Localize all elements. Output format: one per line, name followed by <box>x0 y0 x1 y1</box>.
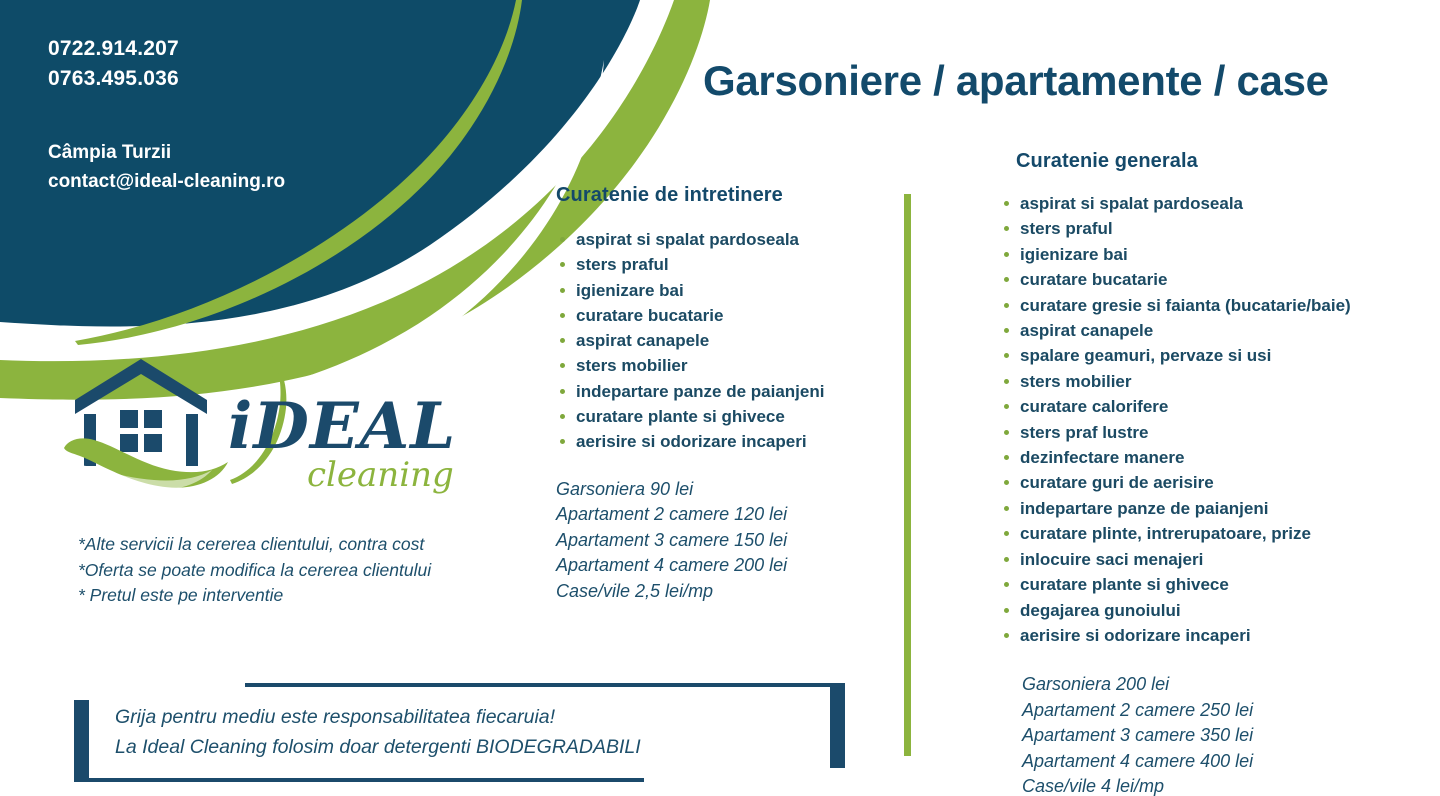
list-item: aspirat canapele <box>1000 318 1430 343</box>
logo-wordmark: iDEAL <box>228 389 456 464</box>
price-row: Apartament 2 camere 120 lei <box>556 502 896 528</box>
service-label: inlocuire saci menajeri <box>1020 550 1203 569</box>
price-list-general: Garsoniera 200 lei Apartament 2 camere 2… <box>1022 672 1430 796</box>
eco-quote-box: Grija pentru mediu este responsabilitate… <box>60 660 820 796</box>
list-item: sters mobilier <box>1000 369 1430 394</box>
service-label: spalare geamuri, pervaze si usi <box>1020 346 1271 365</box>
eco-quote-line-2: La Ideal Cleaning folosim doar detergent… <box>115 732 641 762</box>
bullet-icon <box>560 363 565 368</box>
footnote-1: *Alte servicii la cererea clientului, co… <box>78 532 431 558</box>
service-label: aspirat canapele <box>576 331 709 350</box>
footnotes-block: *Alte servicii la cererea clientului, co… <box>78 532 431 609</box>
bullet-icon <box>560 389 565 394</box>
list-item: curatare bucatarie <box>556 303 896 328</box>
bullet-icon <box>1004 226 1009 231</box>
list-item: sters mobilier <box>556 353 896 378</box>
service-label: igienizare bai <box>576 281 684 300</box>
column-heading-general: Curatenie generala <box>1016 150 1430 173</box>
list-item: aspirat si spalat pardoseala <box>1000 191 1430 216</box>
bullet-icon <box>560 414 565 419</box>
list-item: curatare guri de aerisire <box>1000 470 1430 495</box>
service-label: curatare gresie si faianta (bucatarie/ba… <box>1020 296 1351 315</box>
service-label: sters mobilier <box>576 356 688 375</box>
service-label: indepartare panze de paianjeni <box>1020 499 1268 518</box>
list-item: aerisire si odorizare incaperi <box>1000 623 1430 648</box>
bullet-icon <box>1004 557 1009 562</box>
frame-line-bottom <box>74 778 644 782</box>
footnote-2: *Oferta se poate modifica la cererea cli… <box>78 558 431 584</box>
service-label: curatare plante si ghivece <box>1020 575 1229 594</box>
column-divider <box>904 194 911 756</box>
bullet-icon <box>1004 303 1009 308</box>
list-item: indepartare panze de paianjeni <box>1000 496 1430 521</box>
price-row: Apartament 4 camere 200 lei <box>556 553 896 579</box>
service-label: sters mobilier <box>1020 372 1132 391</box>
list-item: dezinfectare manere <box>1000 445 1430 470</box>
service-label: sters praful <box>1020 219 1113 238</box>
column-general-cleaning: Curatenie generala aspirat si spalat par… <box>1000 150 1430 796</box>
bullet-icon <box>1004 455 1009 460</box>
list-item: aspirat si spalat pardoseala <box>556 227 896 252</box>
bullet-icon <box>1004 480 1009 485</box>
bullet-icon <box>1004 531 1009 536</box>
list-item: indepartare panze de paianjeni <box>556 379 896 404</box>
list-item: inlocuire saci menajeri <box>1000 547 1430 572</box>
service-label: curatare plante si ghivece <box>576 407 785 426</box>
list-item: igienizare bai <box>556 278 896 303</box>
list-item: curatare plante si ghivece <box>1000 572 1430 597</box>
service-label: sters praful <box>576 255 669 274</box>
price-row: Garsoniera 90 lei <box>556 477 896 503</box>
list-item: sters praful <box>556 252 896 277</box>
eco-quote-text: Grija pentru mediu este responsabilitate… <box>115 702 641 762</box>
service-list-maintenance: aspirat si spalat pardoseala sters prafu… <box>556 227 896 455</box>
list-item: igienizare bai <box>1000 242 1430 267</box>
frame-line-top <box>245 683 845 687</box>
bullet-icon <box>1004 252 1009 257</box>
bullet-icon <box>1004 328 1009 333</box>
price-list-maintenance: Garsoniera 90 lei Apartament 2 camere 12… <box>556 477 896 605</box>
bullet-icon <box>1004 633 1009 638</box>
service-label: aerisire si odorizare incaperi <box>576 432 807 451</box>
service-label: aspirat si spalat pardoseala <box>1020 194 1243 213</box>
price-row: Apartament 3 camere 150 lei <box>556 528 896 554</box>
email-address: contact@ideal-cleaning.ro <box>48 168 285 196</box>
service-label: curatare bucatarie <box>576 306 723 325</box>
list-item: sters praf lustre <box>1000 420 1430 445</box>
list-item: curatare bucatarie <box>1000 267 1430 292</box>
list-item: curatare plante si ghivece <box>556 404 896 429</box>
bullet-icon <box>560 288 565 293</box>
service-label: aspirat canapele <box>1020 321 1153 340</box>
bullet-icon <box>1004 201 1009 206</box>
bullet-icon <box>1004 582 1009 587</box>
bullet-icon <box>560 439 565 444</box>
price-row: Case/vile 4 lei/mp <box>1022 774 1430 796</box>
service-label: curatare plinte, intrerupatoare, prize <box>1020 524 1311 543</box>
phone-primary: 0722.914.207 <box>48 34 285 64</box>
phone-secondary: 0763.495.036 <box>48 64 285 94</box>
price-row: Garsoniera 200 lei <box>1022 672 1430 698</box>
bullet-icon <box>560 338 565 343</box>
bullet-icon <box>1004 404 1009 409</box>
bullet-icon <box>560 262 565 267</box>
service-label: degajarea gunoiului <box>1020 601 1181 620</box>
bullet-icon <box>1004 353 1009 358</box>
list-item: aerisire si odorizare incaperi <box>556 429 896 454</box>
list-item: sters praful <box>1000 216 1430 241</box>
list-item: degajarea gunoiului <box>1000 598 1430 623</box>
service-label: dezinfectare manere <box>1020 448 1184 467</box>
bullet-icon <box>1004 608 1009 613</box>
service-label: curatare calorifere <box>1020 397 1168 416</box>
bullet-icon <box>560 237 565 242</box>
bullet-icon <box>560 313 565 318</box>
bullet-icon <box>1004 430 1009 435</box>
city-label: Câmpia Turzii <box>48 138 285 168</box>
bullet-icon <box>1004 379 1009 384</box>
page-title: Garsoniere / apartamente / case <box>703 57 1329 105</box>
service-list-general: aspirat si spalat pardoseala sters prafu… <box>1000 191 1430 648</box>
price-row: Apartament 4 camere 400 lei <box>1022 749 1430 775</box>
service-label: curatare bucatarie <box>1020 270 1167 289</box>
list-item: spalare geamuri, pervaze si usi <box>1000 343 1430 368</box>
price-row: Apartament 3 camere 350 lei <box>1022 723 1430 749</box>
service-label: aerisire si odorizare incaperi <box>1020 626 1251 645</box>
list-item: curatare calorifere <box>1000 394 1430 419</box>
column-maintenance-cleaning: Curatenie de intretinere aspirat si spal… <box>556 184 896 604</box>
frame-line-right <box>830 683 845 768</box>
contact-block: 0722.914.207 0763.495.036 Câmpia Turzii … <box>48 34 285 196</box>
logo-tagline: cleaning <box>307 455 454 495</box>
service-label: aspirat si spalat pardoseala <box>576 230 799 249</box>
price-row: Apartament 2 camere 250 lei <box>1022 698 1430 724</box>
service-label: sters praf lustre <box>1020 423 1149 442</box>
list-item: curatare plinte, intrerupatoare, prize <box>1000 521 1430 546</box>
price-row: Case/vile 2,5 lei/mp <box>556 579 896 605</box>
bullet-icon <box>1004 506 1009 511</box>
bullet-icon <box>1004 277 1009 282</box>
service-label: curatare guri de aerisire <box>1020 473 1214 492</box>
footnote-3: * Pretul este pe interventie <box>78 583 431 609</box>
service-label: igienizare bai <box>1020 245 1128 264</box>
service-label: indepartare panze de paianjeni <box>576 382 824 401</box>
eco-quote-line-1: Grija pentru mediu este responsabilitate… <box>115 702 641 732</box>
poster-canvas: 0722.914.207 0763.495.036 Câmpia Turzii … <box>0 0 1440 796</box>
list-item: aspirat canapele <box>556 328 896 353</box>
frame-line-left <box>74 700 89 782</box>
list-item: curatare gresie si faianta (bucatarie/ba… <box>1000 293 1430 318</box>
ideal-cleaning-logo: iDEAL cleaning <box>62 352 462 502</box>
column-heading-maintenance: Curatenie de intretinere <box>556 184 896 207</box>
